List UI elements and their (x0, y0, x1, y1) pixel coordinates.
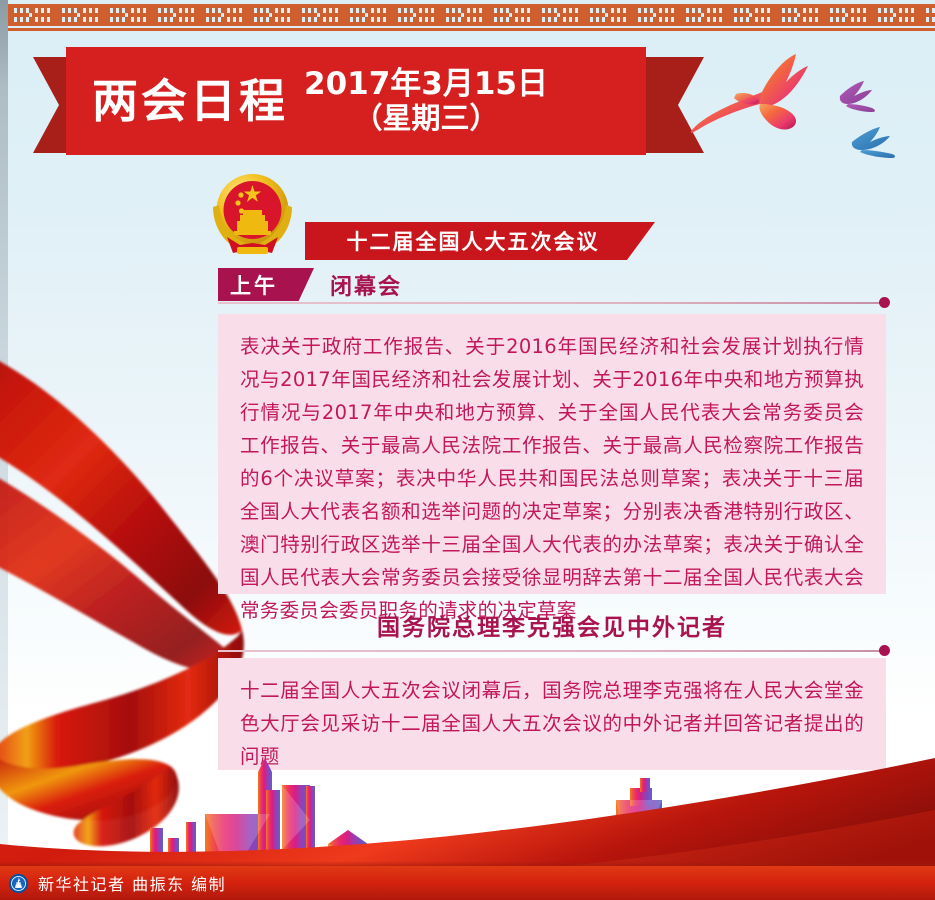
footer-credit-bar: 新华社记者 曲振东 编制 (0, 866, 935, 900)
national-emblem-icon (205, 165, 300, 260)
section-2-rule (218, 650, 886, 652)
section-2-title: 国务院总理李克强会见中外记者 (218, 608, 886, 642)
greek-key-meander-border (0, 0, 935, 30)
section-2-header: 国务院总理李克强会见中外记者 (218, 608, 886, 652)
time-badge-label: 上午 (230, 270, 278, 300)
section-1-title: 闭幕会 (330, 269, 402, 301)
page-title: 两会日程 (92, 78, 288, 124)
rule-end-dot (879, 645, 890, 656)
session-tag: 十二届全国人大五次会议 (305, 222, 655, 260)
header-banner: 两会日程 2017年3月15日 （星期三） (66, 47, 646, 155)
border-underline (8, 28, 935, 31)
bird-purple-small (840, 81, 875, 112)
header-date-line2: （星期三） (304, 102, 548, 134)
bird-blue-small (852, 127, 895, 158)
section-1-body: 表决关于政府工作报告、关于2016年国民经济和社会发展计划执行情况与2017年国… (240, 330, 864, 627)
section-1-header: 上午 闭幕会 (218, 268, 886, 304)
infographic-poster: 两会日程 2017年3月15日 （星期三） (0, 0, 935, 900)
session-tag-label: 十二届全国人大五次会议 (347, 226, 614, 256)
bird-orange-large (691, 54, 808, 133)
xinhua-logo-icon (8, 873, 29, 894)
time-badge-morning: 上午 (218, 268, 314, 301)
header-date-line1: 2017年3月15日 (304, 67, 548, 102)
rule-end-dot (879, 297, 890, 308)
birds-decoration (690, 50, 935, 180)
section-1-rule (218, 302, 886, 304)
header-date: 2017年3月15日 （星期三） (304, 67, 548, 134)
footer-credit-text: 新华社记者 曲振东 编制 (38, 871, 226, 895)
section-1-panel: 表决关于政府工作报告、关于2016年国民经济和社会发展计划执行情况与2017年国… (218, 314, 886, 594)
